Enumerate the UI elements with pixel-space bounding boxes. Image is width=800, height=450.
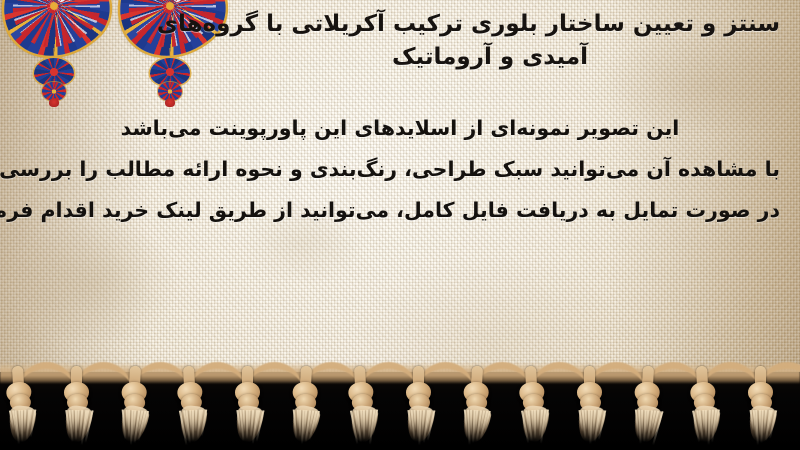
pendant-tip-icon [49,98,59,107]
tassel [731,360,791,450]
tassel [218,360,278,450]
tassel [102,358,167,450]
tassel [389,360,449,450]
slide-canvas: سنتز و تعیین ساختار بلوری ترکیب آکریلاتی… [0,0,800,450]
tassel [444,358,509,450]
tassel [501,358,566,450]
tassel [330,358,395,450]
slide-body-line-1: این تصویر نمونه‌ای از اسلایدهای این پاور… [20,108,780,149]
tassel [159,358,224,450]
tassel-fringe [0,360,800,450]
slide-body-line-3: در صورت تمایل به دریافت فایل کامل، می‌تو… [20,190,780,231]
slide-body: این تصویر نمونه‌ای از اسلایدهای این پاور… [20,108,780,231]
tassel [47,360,107,450]
slide-title-line-2: آمیدی و آروماتیک [200,41,780,74]
slide-body-line-2: با مشاهده آن می‌توانید سبک طراحی، رنگ‌بن… [20,149,780,190]
pendant-tip-icon [165,98,175,107]
tassel [273,358,338,450]
tassel [0,358,52,450]
tassel [615,358,680,450]
slide-title: سنتز و تعیین ساختار بلوری ترکیب آکریلاتی… [200,8,780,74]
slide-title-line-1: سنتز و تعیین ساختار بلوری ترکیب آکریلاتی… [200,8,780,41]
tassel [672,358,737,450]
tassel [560,360,620,450]
